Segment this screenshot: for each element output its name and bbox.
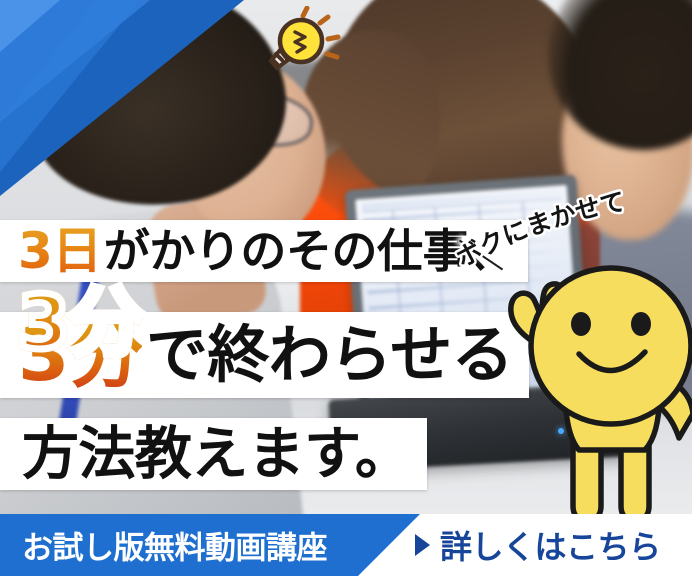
mascot-head	[531, 268, 691, 424]
cta-link-label: 詳しくはこちら	[440, 522, 661, 568]
speech-label: ボクにまかせて	[452, 187, 628, 273]
headline-line-3: 方法教えます。	[0, 418, 427, 490]
headline-line1-highlight: 3日	[18, 226, 102, 276]
triangle-right-icon	[415, 534, 430, 556]
cta-bar[interactable]: お試し版無料動画講座 詳しくはこちら	[0, 514, 692, 576]
lightbulb-icon	[258, 6, 344, 82]
headline-line2-overflow: 3分	[18, 286, 144, 360]
cta-link[interactable]: 詳しくはこちら	[415, 522, 661, 568]
cta-badge-label: お試し版無料動画講座	[22, 523, 327, 568]
mascot-eye-left	[571, 312, 591, 336]
mascot-speech-text: ボクにまかせて	[452, 186, 692, 282]
promo-banner: ボクにまかせて 3分 3日	[0, 0, 692, 576]
headline-line3-text: 方法教えます。	[22, 426, 411, 483]
mascot-eye-right	[631, 312, 651, 336]
headline-line-1: 3日 がかりのその仕事、	[0, 220, 528, 282]
headline-line2-text: で終わらせる	[146, 324, 513, 386]
